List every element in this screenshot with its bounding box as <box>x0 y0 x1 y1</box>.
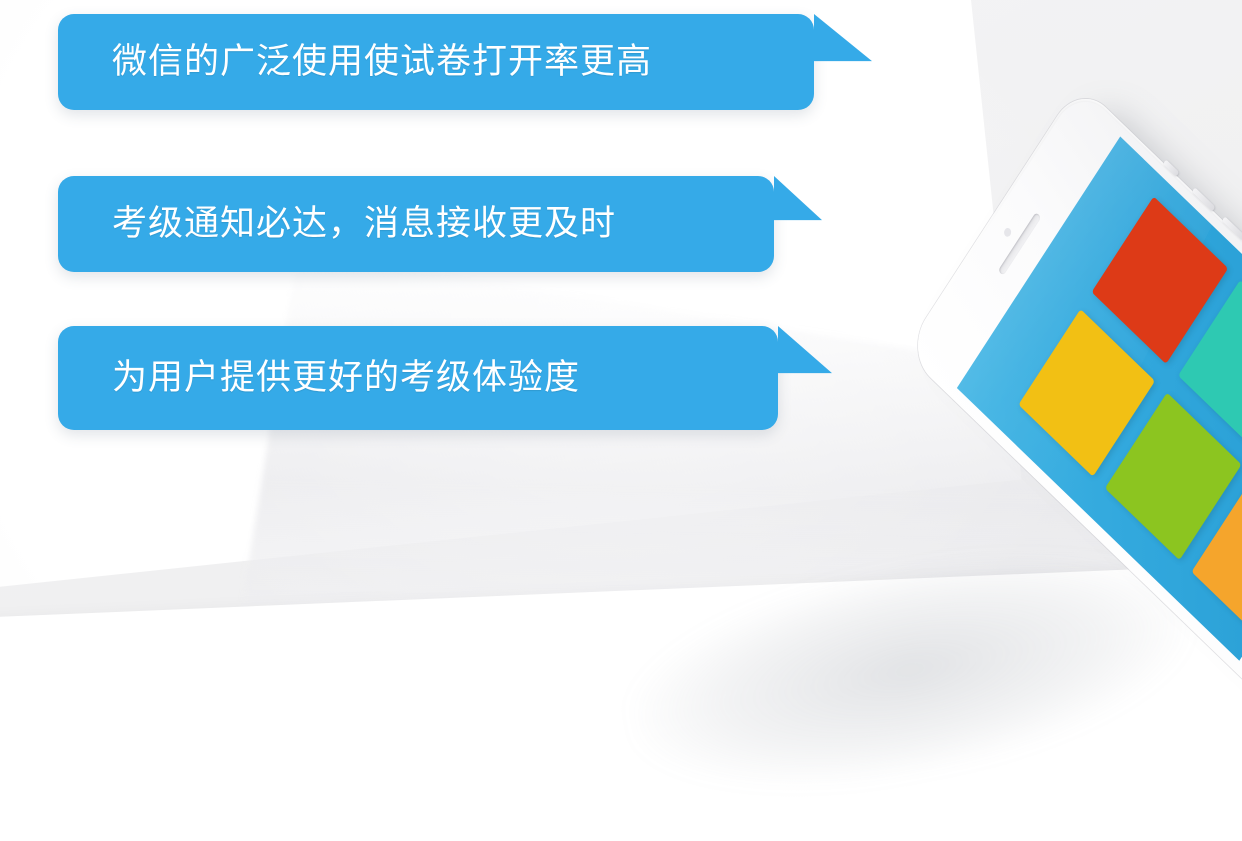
speech-bubble-2[interactable]: 考级通知必达，消息接收更及时 <box>58 176 774 272</box>
speech-bubble-3-text: 为用户提供更好的考级体验度 <box>58 359 580 398</box>
speech-bubble-1[interactable]: 微信的广泛使用使试卷打开率更高 <box>58 14 814 110</box>
speech-bubble-3[interactable]: 为用户提供更好的考级体验度 <box>58 326 778 430</box>
speech-bubble-2-text: 考级通知必达，消息接收更及时 <box>58 205 616 244</box>
poster-canvas: 微信的广泛使用使试卷打开率更高 考级通知必达，消息接收更及时 为用户提供更好的考… <box>0 0 1242 841</box>
speech-bubble-1-text: 微信的广泛使用使试卷打开率更高 <box>58 43 652 82</box>
